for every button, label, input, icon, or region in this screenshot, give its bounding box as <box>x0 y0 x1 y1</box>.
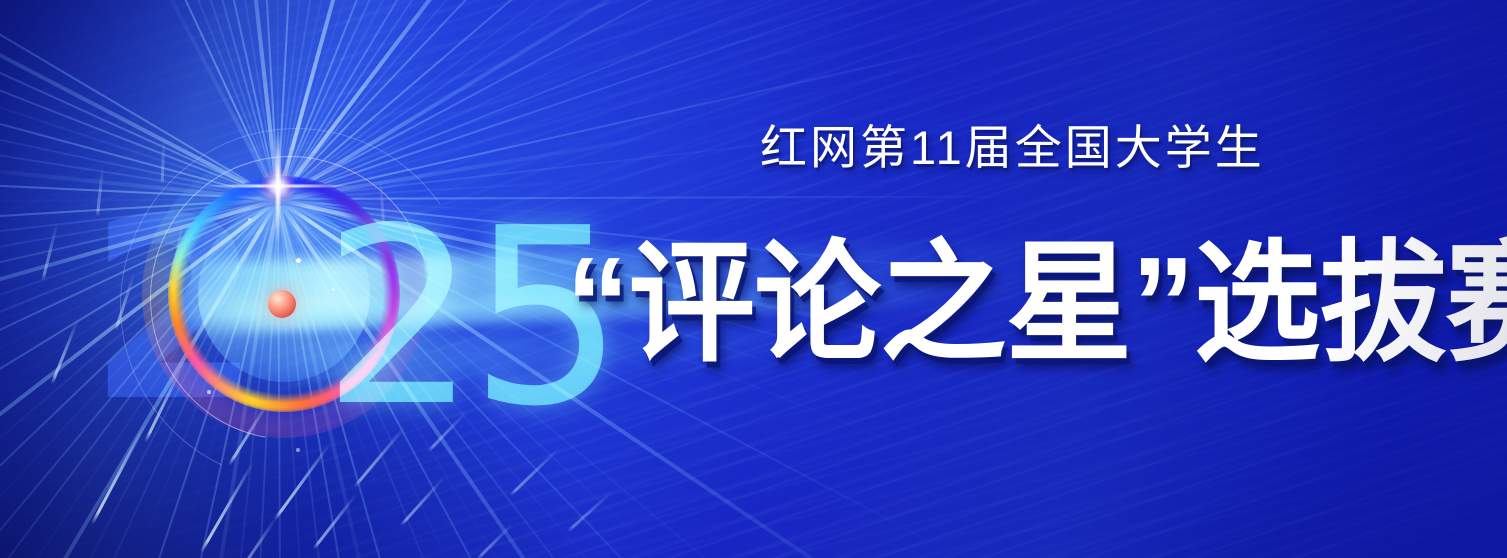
sparkle-dot <box>296 448 300 452</box>
sparkle-dot <box>296 258 301 263</box>
banner-main-title: “评论之星”选拔赛 <box>566 238 1507 370</box>
star-glint-icon <box>276 184 280 188</box>
sparkle-dot <box>207 390 211 394</box>
year-mark-2025: 2 25 <box>0 0 600 558</box>
sparkle-dot <box>248 218 251 221</box>
star-glint-core <box>261 169 295 203</box>
event-banner: 2 25 红网第11届全国大学生 “评论之星”选拔赛 <box>0 0 1507 558</box>
banner-subtitle: 红网第11届全国大学生 <box>760 124 1265 171</box>
title-text-block: 红网第11届全国大学生 “评论之星”选拔赛 <box>560 0 1490 558</box>
decorative-sphere <box>268 290 296 318</box>
